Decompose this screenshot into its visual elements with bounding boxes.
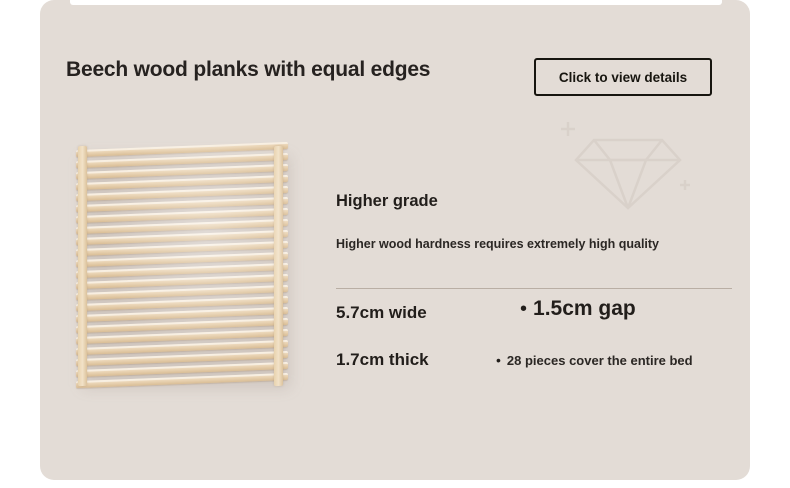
slat-panel — [76, 146, 290, 390]
product-image — [76, 146, 290, 390]
spec-divider — [336, 288, 732, 289]
section-divider — [70, 0, 722, 5]
spec-gap-group: • 1.5cm gap — [520, 297, 636, 321]
bullet-icon: • — [496, 353, 501, 367]
spec-coverage-group: • 28 pieces cover the entire bed — [496, 353, 693, 368]
spec-width: 5.7cm wide — [336, 303, 427, 323]
bullet-icon: • — [520, 299, 527, 319]
page-title: Beech wood planks with equal edges — [66, 58, 430, 82]
spec-gap: 1.5cm gap — [533, 297, 636, 321]
slat-group — [76, 142, 288, 390]
view-details-button-label: Click to view details — [559, 70, 687, 85]
spec-thickness: 1.7cm thick — [336, 350, 429, 370]
grade-subtitle: Higher wood hardness requires extremely … — [336, 237, 732, 251]
slat-rail-right — [274, 146, 283, 386]
grade-title: Higher grade — [336, 192, 732, 211]
slat-rail-left — [78, 146, 87, 386]
view-details-button[interactable]: Click to view details — [534, 58, 712, 96]
product-info-block: Higher grade Higher wood hardness requir… — [336, 192, 732, 251]
product-detail-screenshot: Beech wood planks with equal edges Click… — [0, 0, 790, 488]
spec-coverage: 28 pieces cover the entire bed — [507, 353, 693, 368]
